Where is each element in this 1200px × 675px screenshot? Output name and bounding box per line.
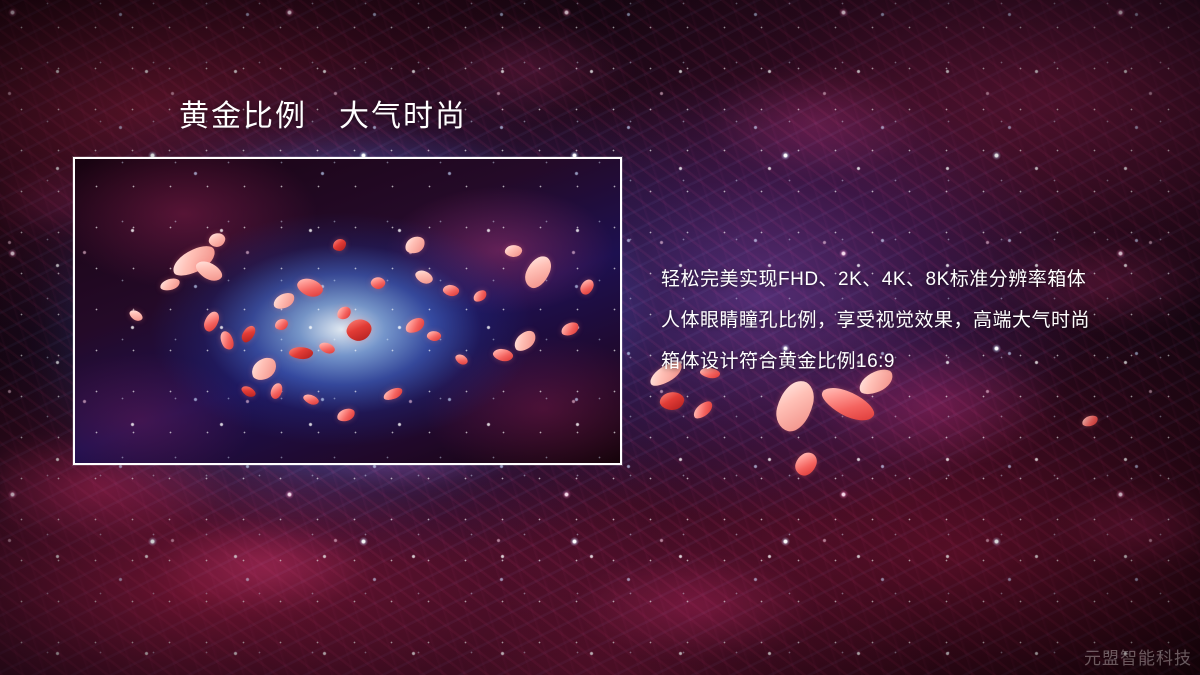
petal	[472, 289, 489, 304]
petal	[302, 392, 320, 407]
petal	[413, 267, 435, 287]
petal	[248, 355, 280, 383]
petal	[270, 382, 284, 400]
petal	[240, 383, 257, 399]
petal	[442, 283, 461, 298]
petal	[426, 329, 442, 342]
petal	[295, 274, 326, 301]
petal	[128, 308, 145, 324]
body-line-2: 人体眼睛瞳孔比例，享受视觉效果，高端大气时尚	[661, 300, 1090, 341]
petal	[454, 352, 470, 367]
petal	[403, 316, 426, 335]
petal	[275, 319, 288, 330]
body-line-1: 轻松完美实现FHD、2K、4K、8K标准分辨率箱体	[661, 259, 1090, 300]
petal	[159, 277, 181, 291]
petal	[271, 291, 296, 311]
petal-layer-framed-image	[75, 159, 620, 463]
petal	[202, 310, 221, 334]
petal	[336, 408, 356, 423]
petal	[333, 239, 346, 251]
body-line-3: 箱体设计符合黄金比例16:9	[661, 341, 1090, 382]
petal	[404, 235, 427, 255]
presentation-slide: 黄金比例 大气时尚 轻松完美实现FHD、2K、4K、8K标准分辨率箱体 人体眼睛…	[0, 0, 1200, 675]
petal	[521, 252, 554, 292]
page-title: 黄金比例 大气时尚	[179, 100, 467, 133]
petal	[511, 328, 540, 354]
petal	[217, 329, 237, 351]
petal	[369, 275, 386, 291]
petal	[344, 316, 373, 344]
petal	[382, 386, 404, 402]
petal	[492, 346, 515, 364]
body-copy: 轻松完美实现FHD、2K、4K、8K标准分辨率箱体 人体眼睛瞳孔比例，享受视觉效…	[661, 259, 1090, 382]
petal	[504, 244, 523, 258]
petal	[579, 277, 596, 296]
petal	[240, 324, 258, 345]
petal	[288, 345, 313, 360]
petal	[336, 305, 352, 320]
petal	[560, 321, 581, 337]
framed-image	[73, 157, 622, 465]
watermark: 元盟智能科技	[1084, 644, 1192, 669]
petal	[318, 340, 337, 357]
